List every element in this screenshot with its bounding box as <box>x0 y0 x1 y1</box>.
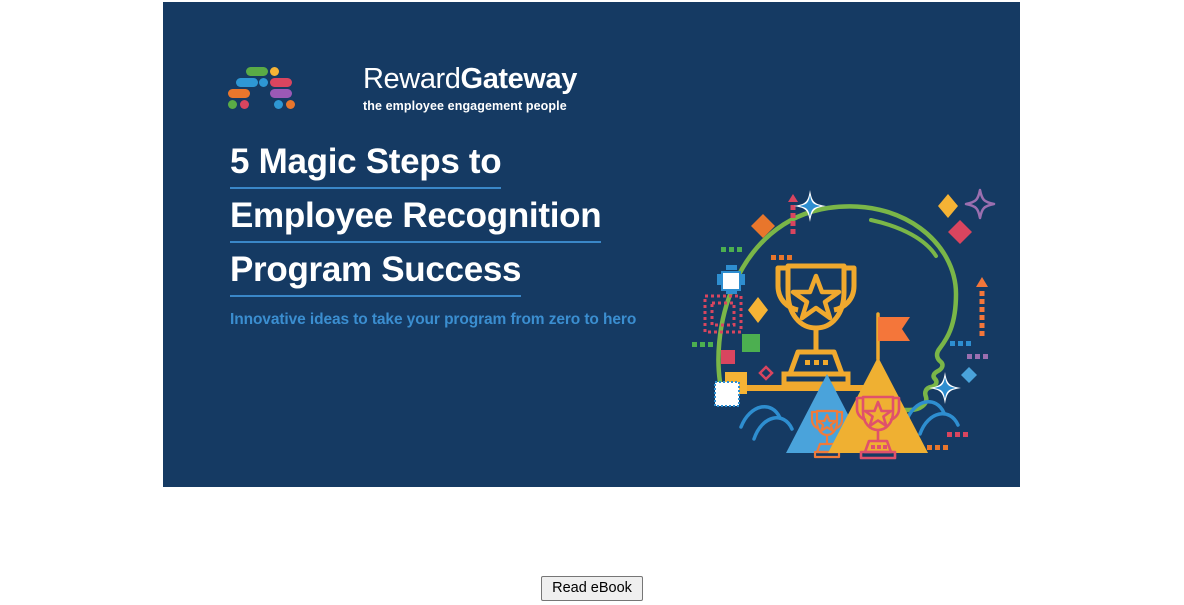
headline-line-2: Employee Recognition <box>230 192 601 243</box>
footer-actions: Read eBook <box>0 576 1184 601</box>
headline-line-1: 5 Magic Steps to <box>230 138 501 189</box>
headline-line-3: Program Success <box>230 246 521 297</box>
logo-word-reward: Reward <box>363 63 461 95</box>
ebook-cover-banner: RewardGateway the employee engagement pe… <box>163 2 1020 487</box>
page-subtitle: Innovative ideas to take your program fr… <box>230 311 636 329</box>
reward-gateway-logo: RewardGateway the employee engagement pe… <box>228 64 668 116</box>
reward-gateway-wordmark: RewardGateway the employee engagement pe… <box>363 64 663 114</box>
logo-tagline: the employee engagement people <box>363 98 663 114</box>
logo-wordmark-text: RewardGateway <box>363 64 663 94</box>
read-ebook-button[interactable]: Read eBook <box>541 576 643 601</box>
logo-word-gateway: Gateway <box>461 63 578 95</box>
page-title: 5 Magic Steps to Employee Recognition Pr… <box>230 138 700 300</box>
recognition-hero-illustration <box>688 182 1018 462</box>
reward-gateway-logo-mark <box>228 66 300 112</box>
